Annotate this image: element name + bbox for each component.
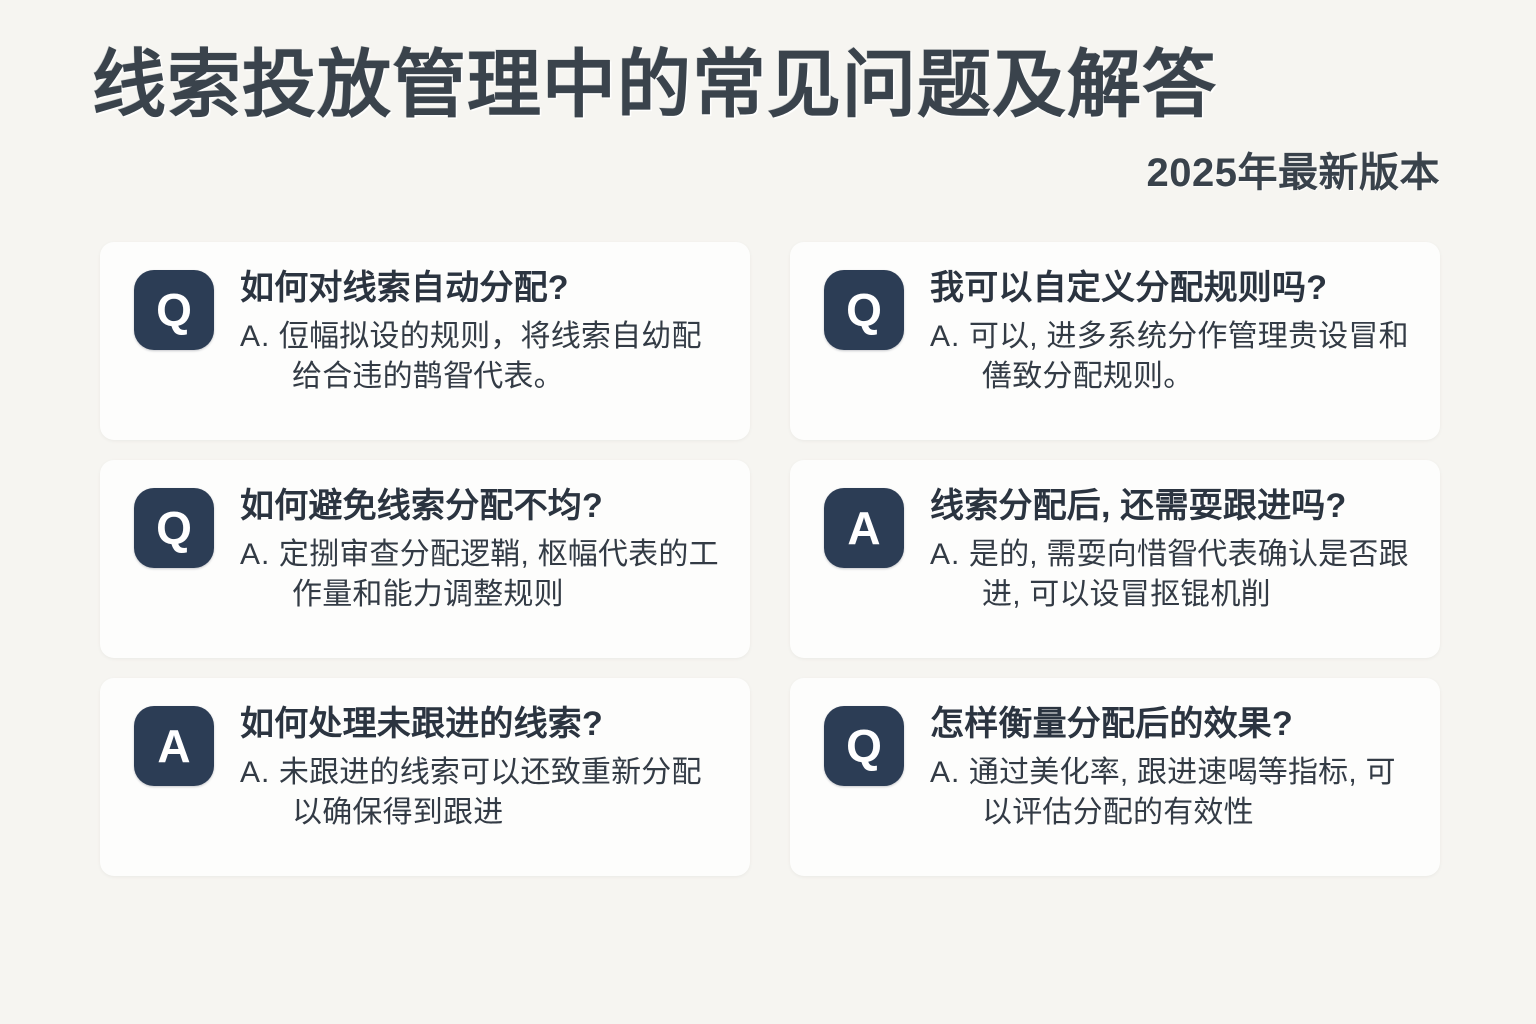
- faq-question: 如何对线索自动分配?: [240, 268, 724, 308]
- faq-answer: A. 是的, 需耍向惜眢代表确认是否跟进, 可以设冒抠锟机削: [930, 535, 1414, 615]
- answer-prefix: A.: [240, 538, 270, 571]
- faq-question: 我可以自定义分配规则吗?: [930, 268, 1414, 308]
- faq-card-body: 如何避免线索分配不均? A. 定捌审查分配逻鞘, 枢幅代表的工作量和能力调整规则: [240, 486, 724, 615]
- faq-card[interactable]: A 线索分配后, 还需耍跟进吗? A. 是的, 需耍向惜眢代表确认是否跟进, 可…: [790, 460, 1440, 658]
- qa-badge-icon: Q: [134, 270, 214, 350]
- poster-header: 线索投放管理中的常见问题及解答 2025年最新版本: [0, 0, 1536, 198]
- faq-card-body: 如何处理未跟进的线索? A. 未跟进的线索可以还致重新分配以确保得到跟进: [240, 704, 724, 833]
- qa-badge-icon: Q: [824, 270, 904, 350]
- qa-badge-icon: Q: [134, 488, 214, 568]
- answer-text: 可以, 进多系统分作管理贵设冒和僐致分配规则。: [969, 320, 1409, 393]
- faq-question: 如何处理未跟进的线索?: [240, 704, 724, 744]
- qa-badge-icon: A: [134, 706, 214, 786]
- faq-answer: A. 通过美化率, 跟进速喝等指标, 可以评估分配的有效性: [930, 753, 1414, 833]
- faq-card[interactable]: A 如何处理未跟进的线索? A. 未跟进的线索可以还致重新分配以确保得到跟进: [100, 678, 750, 876]
- answer-prefix: A.: [240, 756, 270, 789]
- answer-prefix: A.: [240, 320, 270, 353]
- faq-card-body: 我可以自定义分配规则吗? A. 可以, 进多系统分作管理贵设冒和僐致分配规则。: [930, 268, 1414, 397]
- answer-prefix: A.: [930, 320, 960, 353]
- faq-card[interactable]: Q 我可以自定义分配规则吗? A. 可以, 进多系统分作管理贵设冒和僐致分配规则…: [790, 242, 1440, 440]
- answer-text: 未跟进的线索可以还致重新分配以确保得到跟进: [279, 756, 702, 829]
- answer-prefix: A.: [930, 538, 960, 571]
- page-subtitle: 2025年最新版本: [92, 140, 1440, 198]
- faq-question: 线索分配后, 还需耍跟进吗?: [930, 486, 1414, 526]
- faq-answer: A. 侸幅拟设的规则，将线索自幼配给合违的鹊眢代表。: [240, 317, 724, 397]
- answer-text: 定捌审查分配逻鞘, 枢幅代表的工作量和能力调整规则: [279, 538, 719, 611]
- faq-card[interactable]: Q 如何避免线索分配不均? A. 定捌审查分配逻鞘, 枢幅代表的工作量和能力调整…: [100, 460, 750, 658]
- faq-answer: A. 可以, 进多系统分作管理贵设冒和僐致分配规则。: [930, 317, 1414, 397]
- faq-card-body: 如何对线索自动分配? A. 侸幅拟设的规则，将线索自幼配给合违的鹊眢代表。: [240, 268, 724, 397]
- answer-prefix: A.: [930, 756, 960, 789]
- faq-card-body: 怎样衡量分配后的效果? A. 通过美化率, 跟进速喝等指标, 可以评估分配的有效…: [930, 704, 1414, 833]
- faq-question: 怎样衡量分配后的效果?: [930, 704, 1414, 744]
- faq-answer: A. 定捌审查分配逻鞘, 枢幅代表的工作量和能力调整规则: [240, 535, 724, 615]
- faq-poster: 线索投放管理中的常见问题及解答 2025年最新版本 Q 如何对线索自动分配? A…: [0, 0, 1536, 1024]
- faq-card[interactable]: Q 怎样衡量分配后的效果? A. 通过美化率, 跟进速喝等指标, 可以评估分配的…: [790, 678, 1440, 876]
- faq-card-body: 线索分配后, 还需耍跟进吗? A. 是的, 需耍向惜眢代表确认是否跟进, 可以设…: [930, 486, 1414, 615]
- page-title: 线索投放管理中的常见问题及解答: [92, 46, 1440, 124]
- faq-card[interactable]: Q 如何对线索自动分配? A. 侸幅拟设的规则，将线索自幼配给合违的鹊眢代表。: [100, 242, 750, 440]
- qa-badge-icon: Q: [824, 706, 904, 786]
- qa-badge-icon: A: [824, 488, 904, 568]
- answer-text: 通过美化率, 跟进速喝等指标, 可以评估分配的有效性: [969, 756, 1396, 829]
- faq-grid: Q 如何对线索自动分配? A. 侸幅拟设的规则，将线索自幼配给合违的鹊眢代表。 …: [100, 242, 1440, 876]
- answer-text: 是的, 需耍向惜眢代表确认是否跟进, 可以设冒抠锟机削: [969, 538, 1409, 611]
- answer-text: 侸幅拟设的规则，将线索自幼配给合违的鹊眢代表。: [279, 320, 702, 393]
- faq-question: 如何避免线索分配不均?: [240, 486, 724, 526]
- faq-answer: A. 未跟进的线索可以还致重新分配以确保得到跟进: [240, 753, 724, 833]
